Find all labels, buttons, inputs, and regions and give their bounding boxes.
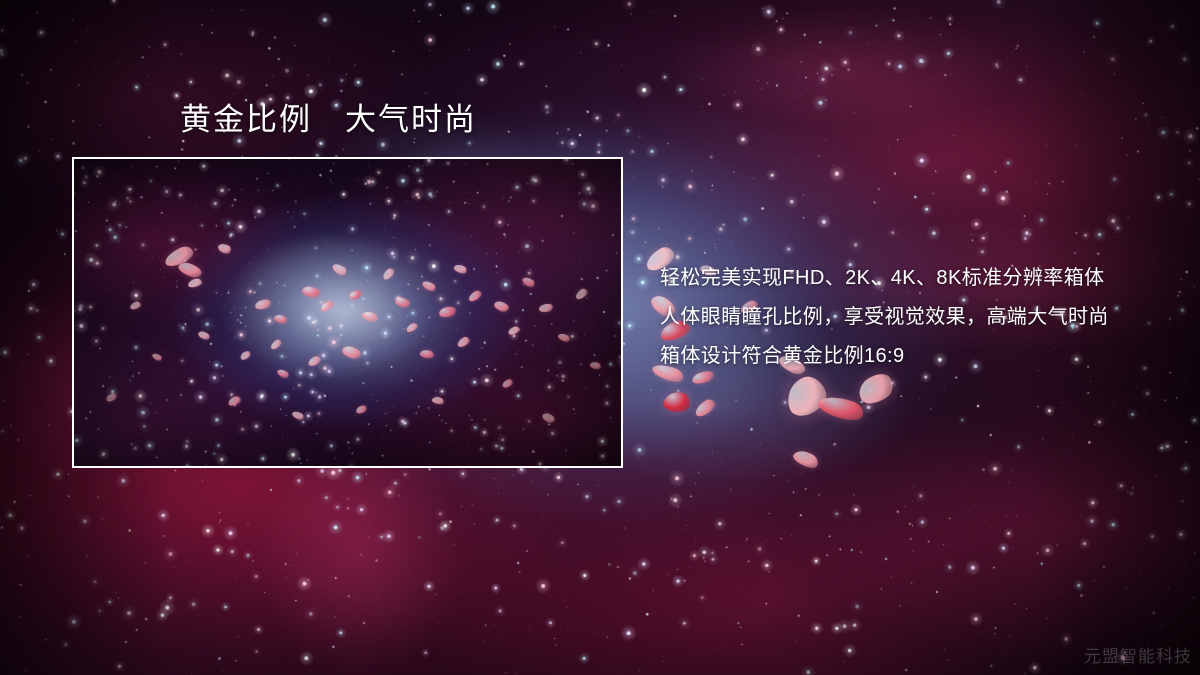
watermark: 元盟智能科技 [1084, 642, 1192, 667]
petal [780, 371, 831, 420]
body-copy-line-3: 箱体设计符合黄金比例16:9 [660, 337, 1160, 376]
petal [791, 447, 821, 472]
panel-vignette [74, 159, 621, 466]
body-copy-line-1: 轻松完美实现FHD、2K、4K、8K标准分辨率箱体 [660, 259, 1160, 298]
body-copy: 轻松完美实现FHD、2K、4K、8K标准分辨率箱体 人体眼睛瞳孔比例，享受视觉效… [660, 259, 1160, 376]
slide-canvas: 黄金比例 大气时尚 轻松完美实现FHD、2K、4K、8K标准分辨率箱体 人体眼睛… [0, 0, 1200, 675]
body-copy-line-2: 人体眼睛瞳孔比例，享受视觉效果，高端大气时尚 [660, 298, 1160, 337]
petal [662, 390, 691, 414]
framed-image-panel [72, 157, 623, 468]
page-title: 黄金比例 大气时尚 [180, 101, 477, 138]
petal [816, 391, 866, 424]
petal [692, 397, 717, 419]
